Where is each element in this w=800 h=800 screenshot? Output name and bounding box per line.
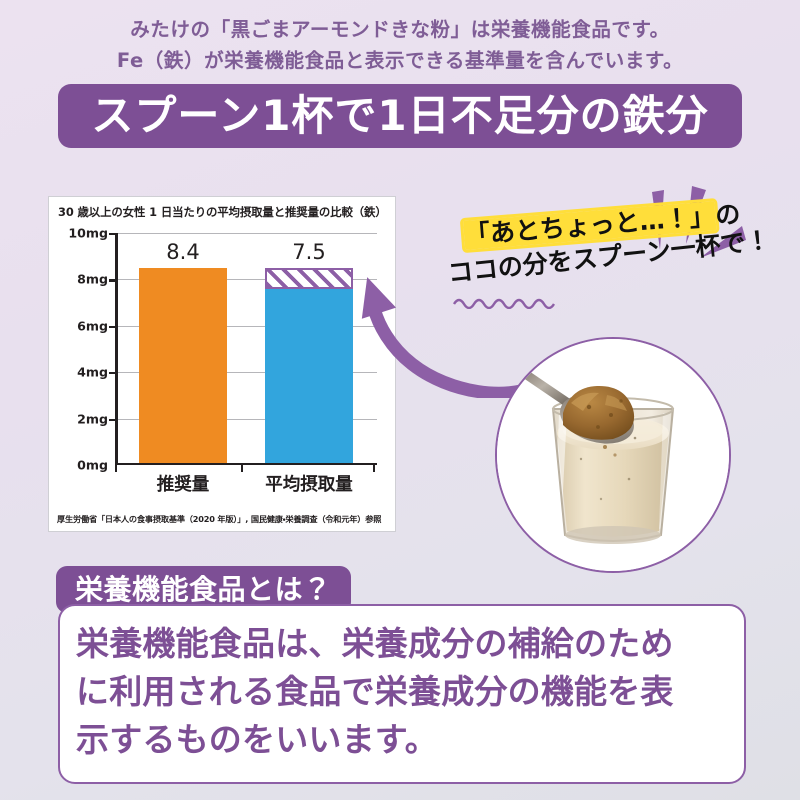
ytick-label-10mg: 10mg [68,226,108,241]
definition-line-2: に利用される食品で栄養成分の機能を表 [76,668,728,716]
definition-box: 栄養機能食品は、栄養成分の補給のため に利用される食品で栄養成分の機能を表 示す… [58,604,746,784]
infographic-page: みたけの「黒ごまアーモンドきな粉」は栄養機能食品です。 Fe（鉄）が栄養機能食品… [0,0,800,800]
xtick-middle [241,465,243,472]
bar-deficit-hatched-segment [265,268,353,289]
y-axis-line [115,233,118,465]
gridline-10mg [115,233,377,234]
bar-average-intake-fill [265,289,353,463]
bar-recommended-fill [139,268,227,463]
ytick-label-6mg: 6mg [77,318,108,333]
ytick-label-2mg: 2mg [77,411,108,426]
bar-average-intake-category: 平均摂取量 [265,471,353,496]
bar-recommended-category: 推奨量 [157,471,210,496]
xtick-left [115,465,117,472]
header-line-1: みたけの「黒ごまアーモンドきな粉」は栄養機能食品です。 [0,14,800,45]
chart-panel: 30 歳以上の女性 1 日当たりの平均摂取量と推奨量の比較（鉄） 10mg 8m… [48,196,396,532]
ytick-label-8mg: 8mg [77,272,108,287]
headline-banner-text: スプーン1杯で1日不足分の鉄分 [91,95,708,137]
definition-line-1: 栄養機能食品は、栄養成分の補給のため [76,620,728,668]
header-line-2: Fe（鉄）が栄養機能食品と表示できる基準量を含んでいます。 [0,45,800,76]
bar-recommended-value: 8.4 [166,240,199,264]
section-label-text: 栄養機能食品とは？ [75,576,332,604]
ytick-label-0mg: 0mg [77,458,108,473]
ytick-label-4mg: 4mg [77,365,108,380]
definition-line-3: 示するものをいいます。 [76,716,728,764]
product-photo-illustration [497,339,729,571]
bar-average-intake: 7.5 平均摂取量 [265,268,353,463]
product-photo [495,337,731,573]
xtick-right [373,465,375,472]
chart-title: 30 歳以上の女性 1 日当たりの平均摂取量と推奨量の比較（鉄） [58,204,387,220]
chart-plot-area: 10mg 8mg 6mg 4mg 2mg 0mg 8.4 推奨量 7.5 [115,233,377,465]
headline-banner: スプーン1杯で1日不足分の鉄分 [58,84,742,148]
bar-average-intake-value: 7.5 [292,240,325,264]
header-block: みたけの「黒ごまアーモンドきな粉」は栄養機能食品です。 Fe（鉄）が栄養機能食品… [0,14,800,76]
wavy-underline-icon [452,293,562,309]
chart-footnote: 厚生労働省「日本人の食事摂取基準（2020 年版）」, 国民健康・栄養調査（令和… [57,513,381,525]
bar-recommended: 8.4 推奨量 [139,268,227,463]
